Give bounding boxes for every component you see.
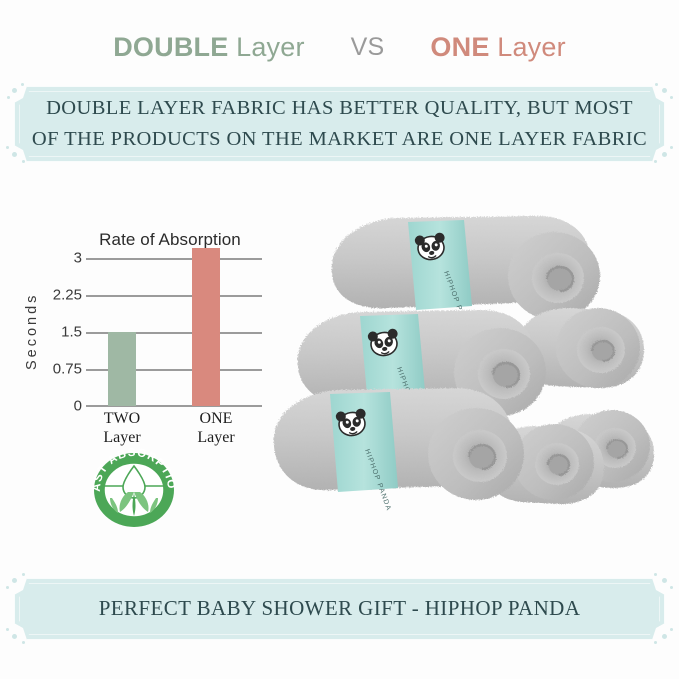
category-label-two-layer: TWO Layer (84, 410, 160, 448)
towel-stack-illustration: HIPHOP PANDA (268, 196, 668, 556)
headline-double-soft: Layer (236, 32, 305, 62)
bottom-banner: PERFECT BABY SHOWER GIFT - HIPHOP PANDA (14, 578, 665, 640)
category-label-one-layer: ONE Layer (178, 410, 254, 448)
gridline (86, 295, 262, 297)
y-tick-label: 2.25 (38, 287, 82, 304)
top-banner-line-2: OF THE PRODUCTS ON THE MARKET ARE ONE LA… (32, 124, 647, 155)
headline-double-strong: DOUBLE (113, 32, 228, 62)
headline-one-strong: ONE (430, 32, 489, 62)
headline: DOUBLE Layer VS ONE Layer (0, 26, 679, 68)
headline-one-soft: Layer (497, 32, 566, 62)
category-label-line: Layer (178, 429, 254, 448)
towel-roll-front: HIPHOP PANDA (274, 388, 524, 512)
chart-plot-area: 1.5 3.2 (86, 258, 262, 406)
category-label-line: Layer (84, 429, 160, 448)
category-label-line: ONE (178, 410, 254, 429)
chart-y-ticks: 3 2.25 1.5 0.75 0 (38, 258, 82, 406)
gridline (86, 258, 262, 260)
absorption-bar-chart: Rate of Absorption Seconds 3 2.25 1.5 0.… (14, 230, 264, 445)
fast-absorption-badge: FAST ABSORPTION FAST ABSORPTION (82, 446, 202, 528)
top-banner-line-1: DOUBLE LAYER FABRIC HAS BETTER QUALITY, … (46, 93, 633, 124)
fast-absorption-seal-icon: FAST ABSORPTION (82, 446, 202, 528)
top-banner: DOUBLE LAYER FABRIC HAS BETTER QUALITY, … (14, 86, 665, 162)
towel-band (330, 392, 398, 492)
headline-vs: VS (351, 33, 385, 62)
y-tick-label: 1.5 (38, 324, 82, 341)
y-tick-label: 0 (38, 398, 82, 415)
product-photo-towel-stack: HIPHOP PANDA (268, 196, 668, 556)
y-tick-label: 0.75 (38, 361, 82, 378)
bar-two-layer (108, 332, 136, 406)
headline-one-layer: ONE Layer (430, 32, 565, 63)
bar-one-layer (192, 248, 220, 406)
chart-title: Rate of Absorption (76, 230, 264, 250)
product-band-label: HIPHOP PANDA (668, 196, 669, 197)
headline-double-layer: DOUBLE Layer (113, 32, 304, 63)
infographic-page: DOUBLE Layer VS ONE Layer DOUBLE LAYER F… (0, 0, 679, 679)
y-tick-label: 3 (38, 250, 82, 267)
category-label-line: TWO (84, 410, 160, 429)
bottom-banner-line-1: PERFECT BABY SHOWER GIFT - HIPHOP PANDA (99, 593, 581, 625)
